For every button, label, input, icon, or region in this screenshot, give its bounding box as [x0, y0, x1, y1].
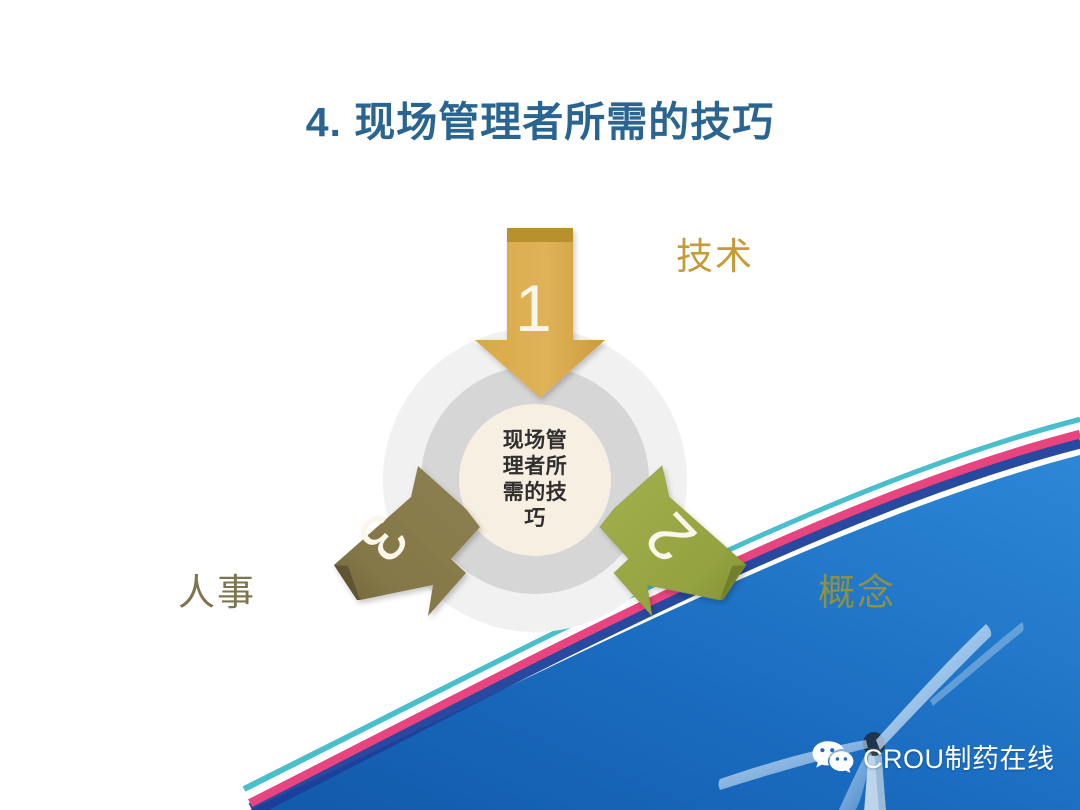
watermark-text: CROU制药在线: [863, 737, 1055, 776]
diagram-center-label: 现场管 理者所 需的技 巧: [459, 404, 611, 556]
label-technology: 技术: [676, 226, 754, 280]
wechat-icon: [812, 740, 854, 774]
center-line-4: 巧: [497, 506, 573, 532]
label-concept: 概念: [818, 562, 896, 616]
arrow-1-number: 1: [515, 275, 552, 341]
slide-canvas: 4. 现场管理者所需的技巧: [0, 0, 1080, 810]
center-line-1: 现场管: [497, 428, 573, 454]
center-line-2: 理者所: [497, 454, 573, 480]
label-people: 人事: [178, 562, 256, 616]
watermark: CROU制药在线: [812, 737, 1055, 776]
center-line-3: 需的技: [497, 480, 573, 506]
